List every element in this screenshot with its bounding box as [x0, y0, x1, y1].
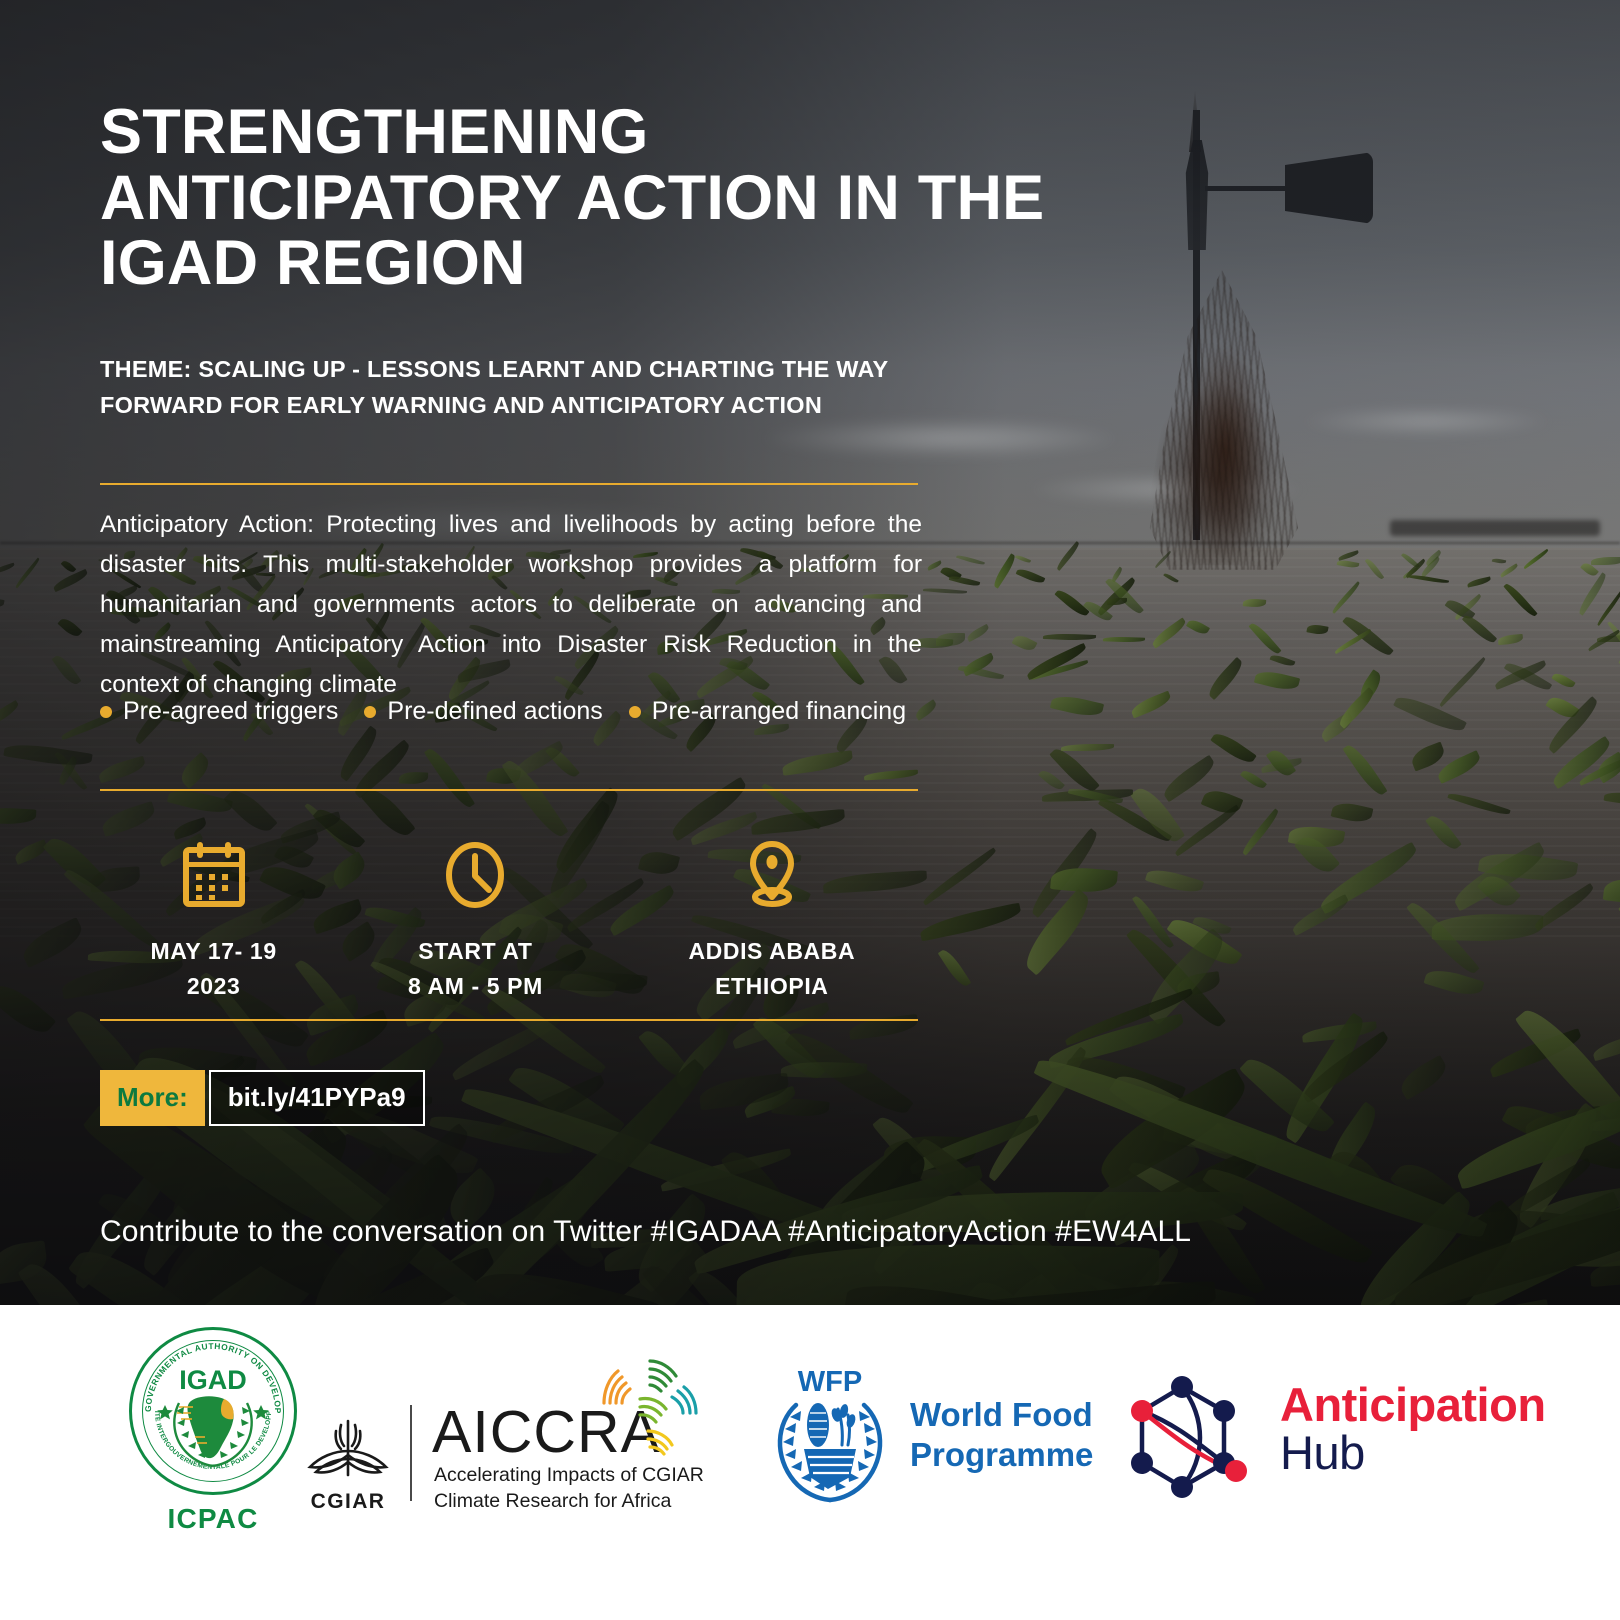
wfp-wordmark: World Food Programme: [910, 1395, 1093, 1476]
aiccra-tagline-line2: Climate Research for Africa: [434, 1489, 704, 1515]
clock-icon: [443, 838, 507, 912]
event-date-line2: 2023: [151, 969, 277, 1004]
cgiar-mark: CGIAR: [300, 1415, 396, 1514]
list-item: Pre-defined actions: [364, 697, 602, 726]
event-location-line1: ADDIS ABABA: [688, 934, 855, 969]
event-poster: STRENGTHENING ANTICIPATORY ACTION IN THE…: [0, 0, 1620, 1620]
event-details-row: MAY 17- 19 2023 START AT 8 AM - 5 PM: [100, 838, 920, 1003]
aiccra-cgiar-logo: CGIAR AICCRA Accelerating Impacts of CGI…: [300, 1351, 720, 1541]
igad-acronym: IGAD: [179, 1365, 247, 1395]
event-time-text: START AT 8 AM - 5 PM: [408, 934, 543, 1003]
key-points-list: Pre-agreed triggers Pre-defined actions …: [100, 697, 1000, 726]
divider-bottom: [100, 1019, 918, 1021]
list-item-label: Pre-arranged financing: [652, 697, 906, 726]
divider-middle: [100, 789, 918, 791]
location-pin-icon: [744, 838, 800, 912]
event-location-block: ADDIS ABABA ETHIOPIA: [624, 838, 920, 1003]
hub-network-icon: [1120, 1363, 1270, 1513]
footer-logo-strip: INTERGOVERNMENTAL AUTHORITY ON DEVELOPME…: [0, 1305, 1620, 1620]
wfp-logo: WFP: [760, 1355, 1080, 1525]
more-info-group[interactable]: More: bit.ly/41PYPa9: [100, 1070, 425, 1126]
aiccra-tagline: Accelerating Impacts of CGIAR Climate Re…: [434, 1463, 704, 1514]
logo-divider: [410, 1405, 412, 1501]
wfp-name-line2: Programme: [910, 1435, 1093, 1475]
anticipation-hub-logo: Anticipation Hub: [1120, 1363, 1540, 1513]
event-time-line1: START AT: [408, 934, 543, 969]
list-item-label: Pre-defined actions: [387, 697, 602, 726]
hub-name-line2: Hub: [1280, 1429, 1546, 1477]
description-paragraph: Anticipatory Action: Protecting lives an…: [100, 505, 922, 705]
bullet-dot-icon: [100, 706, 112, 718]
wfp-emblem-icon: WFP: [760, 1365, 900, 1505]
cgiar-label: CGIAR: [300, 1490, 396, 1514]
more-link-url[interactable]: bit.ly/41PYPa9: [209, 1070, 425, 1126]
event-time-block: START AT 8 AM - 5 PM: [327, 838, 623, 1003]
event-date-block: MAY 17- 19 2023: [100, 838, 327, 1003]
divider-top: [100, 483, 918, 485]
theme-text: THEME: SCALING UP - LESSONS LEARNT AND C…: [100, 352, 900, 424]
bullet-dot-icon: [364, 706, 376, 718]
hub-wordmark: Anticipation Hub: [1280, 1381, 1546, 1477]
bullet-dot-icon: [629, 706, 641, 718]
list-item-label: Pre-agreed triggers: [123, 697, 338, 726]
event-location-text: ADDIS ABABA ETHIOPIA: [688, 934, 855, 1003]
calendar-icon: [181, 838, 247, 912]
wfp-acronym: WFP: [798, 1366, 862, 1398]
more-label: More:: [100, 1070, 205, 1126]
igad-seal-icon: INTERGOVERNMENTAL AUTHORITY ON DEVELOPME…: [129, 1327, 297, 1495]
wfp-name-line1: World Food: [910, 1395, 1093, 1435]
twitter-hashtags-text: Contribute to the conversation on Twitte…: [100, 1215, 1500, 1249]
cgiar-wheat-icon: [300, 1415, 396, 1481]
page-title: STRENGTHENING ANTICIPATORY ACTION IN THE…: [100, 100, 1080, 297]
list-item: Pre-arranged financing: [629, 697, 906, 726]
poster-content: STRENGTHENING ANTICIPATORY ACTION IN THE…: [0, 0, 1620, 1305]
event-date-text: MAY 17- 19 2023: [151, 934, 277, 1003]
event-date-line1: MAY 17- 19: [151, 934, 277, 969]
event-time-line2: 8 AM - 5 PM: [408, 969, 543, 1004]
aiccra-tagline-line1: Accelerating Impacts of CGIAR: [434, 1463, 704, 1489]
list-item: Pre-agreed triggers: [100, 697, 338, 726]
event-location-line2: ETHIOPIA: [688, 969, 855, 1004]
africa-fingerprint-icon: [592, 1343, 712, 1463]
hub-name-line1: Anticipation: [1280, 1381, 1546, 1429]
